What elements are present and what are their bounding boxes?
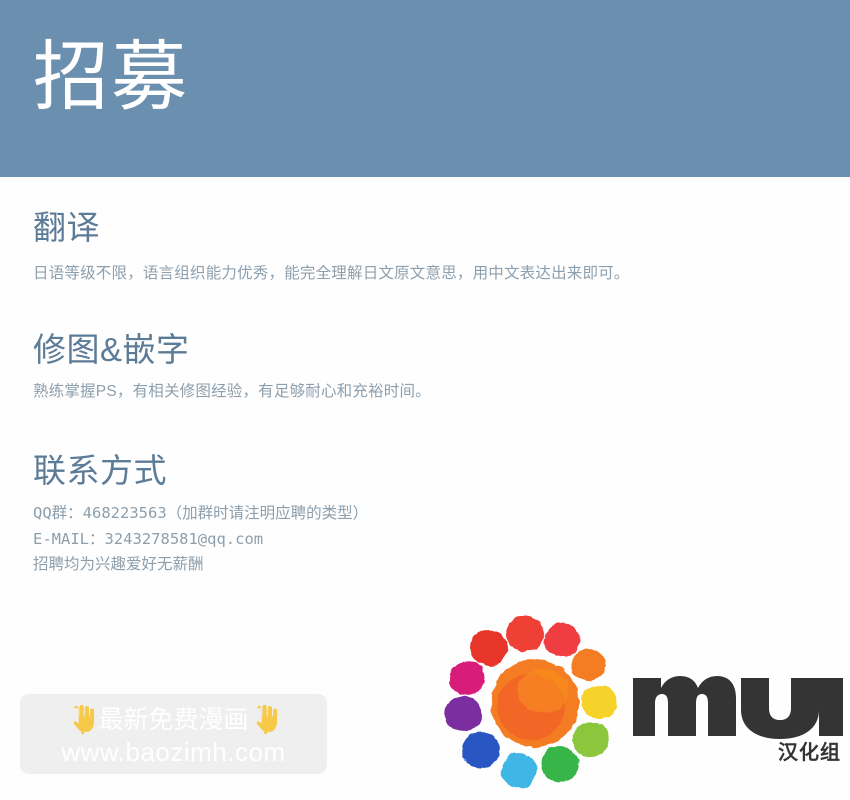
watermark-url[interactable]: www.baozimh.com	[61, 739, 285, 765]
contact-line-email: E-MAIL：3243278581@qq.com	[33, 527, 850, 552]
content-area: 翻译 日语等级不限，语言组织能力优秀，能完全理解日文原文意思，用中文表达出来即可…	[0, 177, 850, 577]
watermark-badge[interactable]: 最新免费漫画 www.baozimh.com	[20, 694, 327, 774]
contact-lines: QQ群：468223563（加群时请注明应聘的类型） E-MAIL：324327…	[33, 501, 850, 577]
page-title: 招募	[33, 38, 189, 118]
section-retouch: 修图&嵌字 熟练掌握PS，有相关修图经验，有足够耐心和充裕时间。	[0, 331, 850, 405]
contact-line-qq: QQ群：468223563（加群时请注明应聘的类型）	[33, 501, 850, 526]
section-contact: 联系方式 QQ群：468223563（加群时请注明应聘的类型） E-MAIL：3…	[0, 452, 850, 577]
section-heading-translate: 翻译	[33, 209, 850, 248]
watermark-promo-row: 最新免费漫画	[68, 703, 278, 737]
header-band: 招募	[0, 0, 850, 177]
section-heading-retouch: 修图&嵌字	[33, 331, 850, 370]
logo-wordmark-group: 汉化组	[631, 670, 843, 790]
pointing-down-hand-icon	[251, 705, 279, 735]
contact-line-note: 招聘均为兴趣爱好无薪酬	[33, 552, 850, 577]
watermark-promo-text: 最新免费漫画	[98, 708, 248, 733]
section-heading-contact: 联系方式	[33, 452, 850, 491]
logo-subtitle: 汉化组	[778, 743, 841, 763]
group-logo: 汉化组	[443, 615, 843, 791]
mum-wordmark-icon	[631, 670, 843, 740]
pointing-down-hand-icon	[68, 705, 96, 735]
section-translate: 翻译 日语等级不限，语言组织能力优秀，能完全理解日文原文意思，用中文表达出来即可…	[0, 209, 850, 287]
section-body-retouch: 熟练掌握PS，有相关修图经验，有足够耐心和充裕时间。	[33, 380, 850, 405]
logo-dot-ring-icon	[443, 615, 633, 791]
section-body-translate: 日语等级不限，语言组织能力优秀，能完全理解日文原文意思，用中文表达出来即可。	[33, 262, 850, 287]
